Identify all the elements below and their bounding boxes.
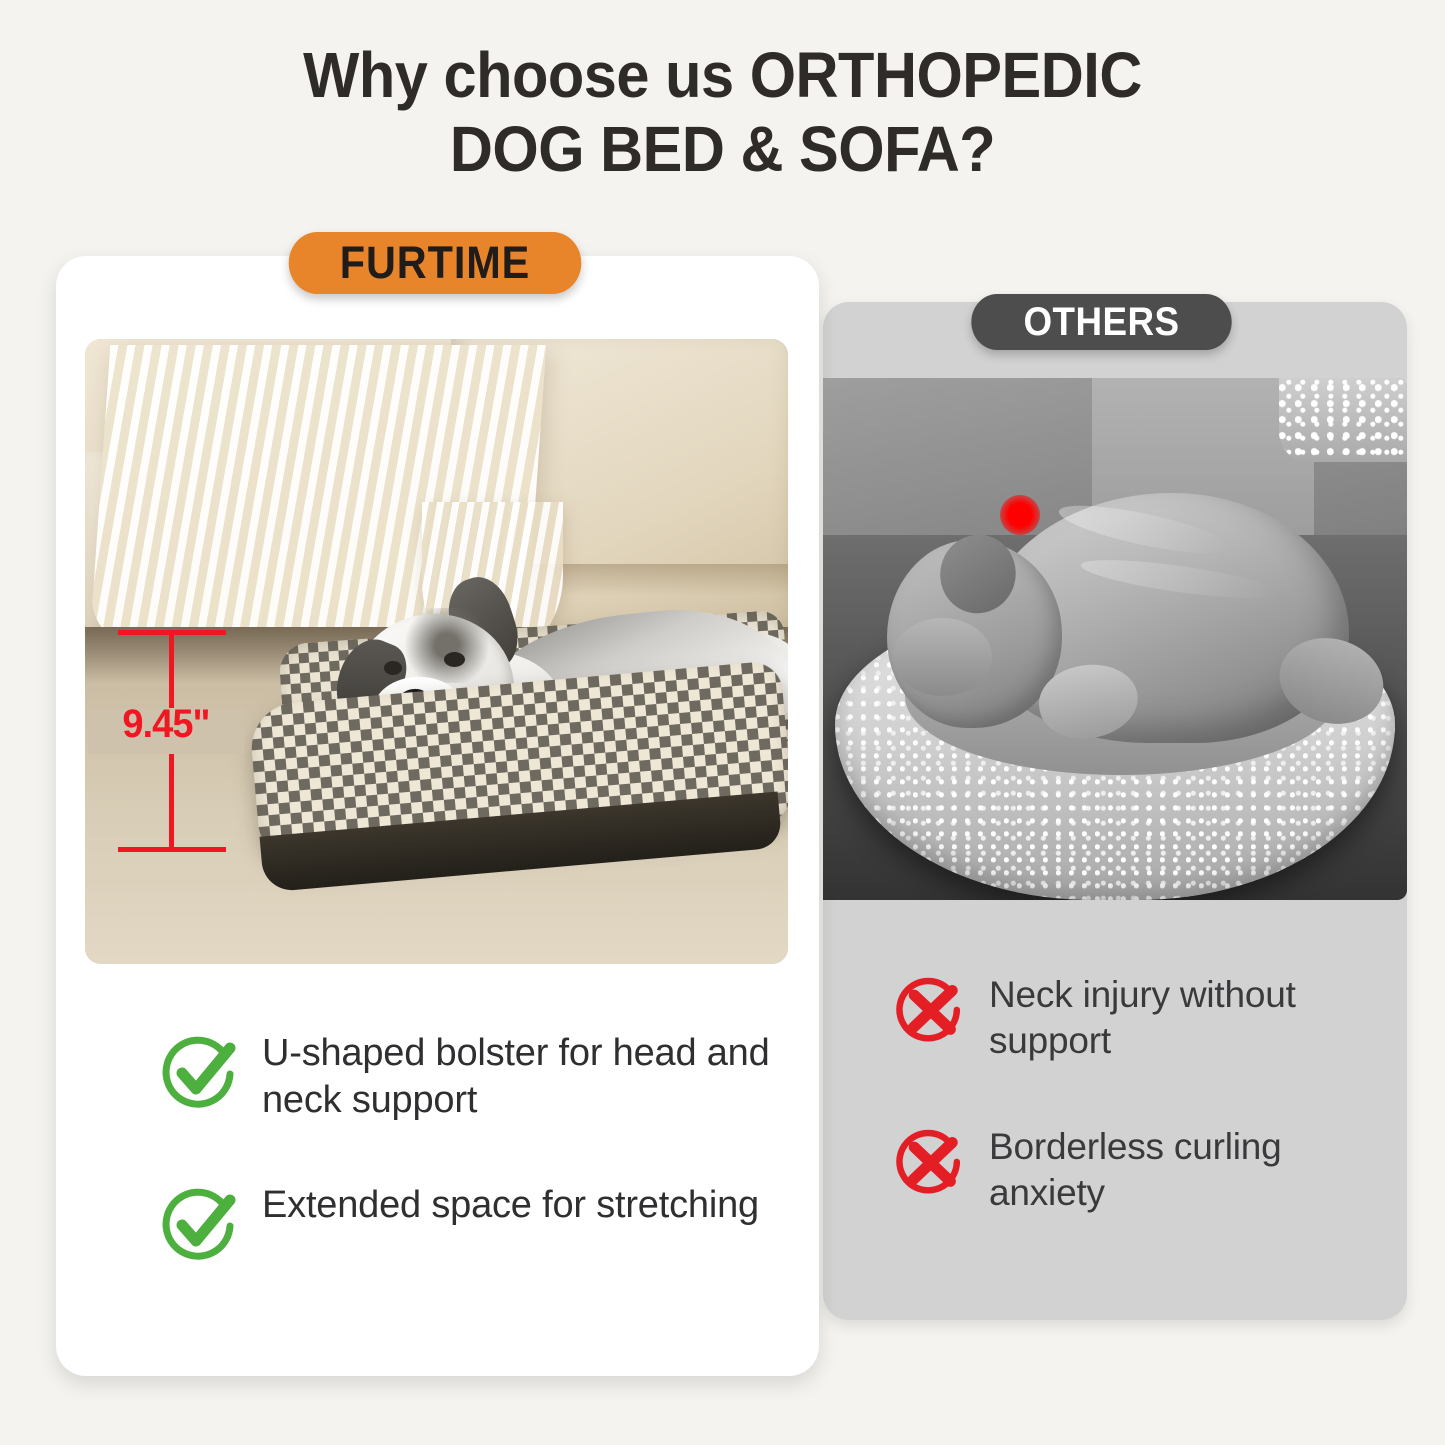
photo-dog-eye: [444, 652, 465, 667]
green-check-icon: [160, 1032, 240, 1112]
height-measurement-annotation: 9.45": [118, 630, 258, 852]
others-badge-label: OTHERS: [1023, 300, 1179, 345]
photo-lace-curtain: [1279, 378, 1407, 462]
neck-pain-marker-icon: [1000, 495, 1040, 535]
furtime-badge-label: FURTIME: [340, 237, 530, 289]
list-item-label: Borderless curling anxiety: [989, 1124, 1363, 1216]
others-badge: OTHERS: [971, 294, 1231, 350]
list-item-label: U-shaped bolster for head and neck suppo…: [262, 1030, 780, 1124]
comparison-infographic: Why choose us ORTHOPEDIC DOG BED & SOFA?: [0, 0, 1445, 1445]
list-item: Extended space for stretching: [160, 1182, 780, 1264]
furtime-feature-list: U-shaped bolster for head and neck suppo…: [160, 1030, 780, 1322]
green-check-icon: [160, 1184, 240, 1264]
red-x-icon: [893, 972, 967, 1046]
page-title-line-2: DOG BED & SOFA?: [51, 112, 1395, 186]
page-title-line-1: Why choose us ORTHOPEDIC: [51, 38, 1395, 112]
furtime-badge: FURTIME: [289, 232, 582, 294]
others-feature-list: Neck injury without support Borderless c…: [893, 972, 1363, 1276]
photo-dog-eye: [384, 661, 402, 675]
others-photo: [823, 378, 1407, 900]
measure-cap-bottom: [118, 847, 226, 852]
page-title: Why choose us ORTHOPEDIC DOG BED & SOFA?: [51, 38, 1395, 186]
list-item: U-shaped bolster for head and neck suppo…: [160, 1030, 780, 1124]
list-item-label: Neck injury without support: [989, 972, 1363, 1064]
measure-value-label: 9.45": [84, 702, 247, 747]
photo-dog-marking: [401, 608, 492, 683]
list-item-label: Extended space for stretching: [262, 1182, 759, 1229]
red-x-icon: [893, 1124, 967, 1198]
list-item: Neck injury without support: [893, 972, 1363, 1064]
list-item: Borderless curling anxiety: [893, 1124, 1363, 1216]
